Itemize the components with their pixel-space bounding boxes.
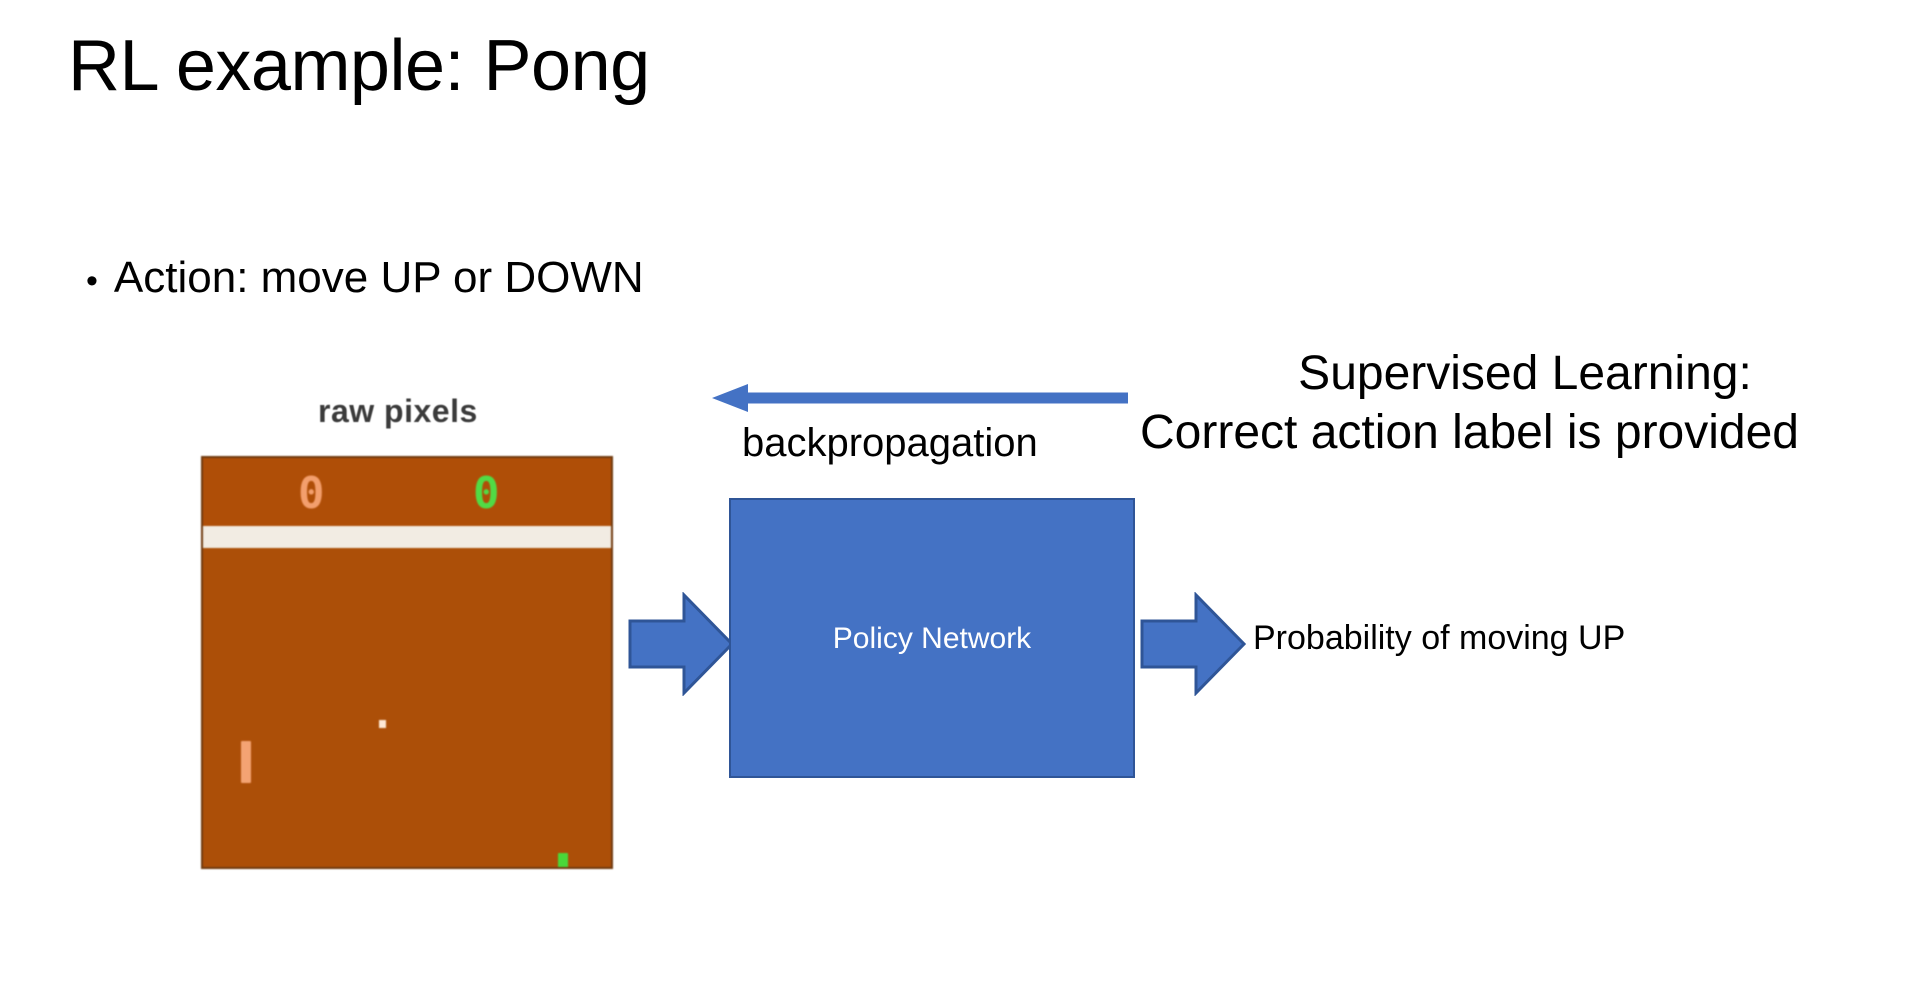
- slide-canvas: { "slide": { "title": "RL example: Pong"…: [0, 0, 1920, 994]
- pong-ball: [379, 720, 386, 728]
- pong-paddle-right: [558, 853, 568, 869]
- bullet-dot-icon: •: [86, 264, 98, 298]
- pong-paddle-left: [241, 741, 251, 783]
- policy-network-box: Policy Network: [729, 498, 1135, 778]
- pong-score-right: 0: [473, 472, 500, 516]
- bullet-item-action: • Action: move UP or DOWN: [86, 254, 644, 302]
- page-title: RL example: Pong: [68, 28, 650, 106]
- supervised-learning-detail: Correct action label is provided: [1140, 404, 1910, 463]
- policy-network-label: Policy Network: [833, 622, 1031, 655]
- output-probability-label: Probability of moving UP: [1253, 620, 1625, 657]
- supervised-learning-heading: Supervised Learning:: [1140, 345, 1910, 404]
- raw-pixels-caption: raw pixels: [318, 393, 478, 430]
- input-block-arrow-icon: [628, 592, 734, 696]
- pong-game-screenshot: 0 0: [201, 456, 613, 869]
- pong-scorebar: 0 0: [203, 458, 611, 526]
- supervised-learning-note: Supervised Learning: Correct action labe…: [1140, 345, 1910, 462]
- pong-divider-bar: [203, 526, 611, 548]
- pong-score-left: 0: [298, 472, 325, 516]
- pong-play-field: [203, 548, 611, 867]
- bullet-item-label: Action: move UP or DOWN: [114, 254, 644, 302]
- backpropagation-label: backpropagation: [742, 421, 1038, 465]
- backpropagation-arrow-icon: [712, 383, 1128, 413]
- output-block-arrow-icon: [1140, 592, 1246, 696]
